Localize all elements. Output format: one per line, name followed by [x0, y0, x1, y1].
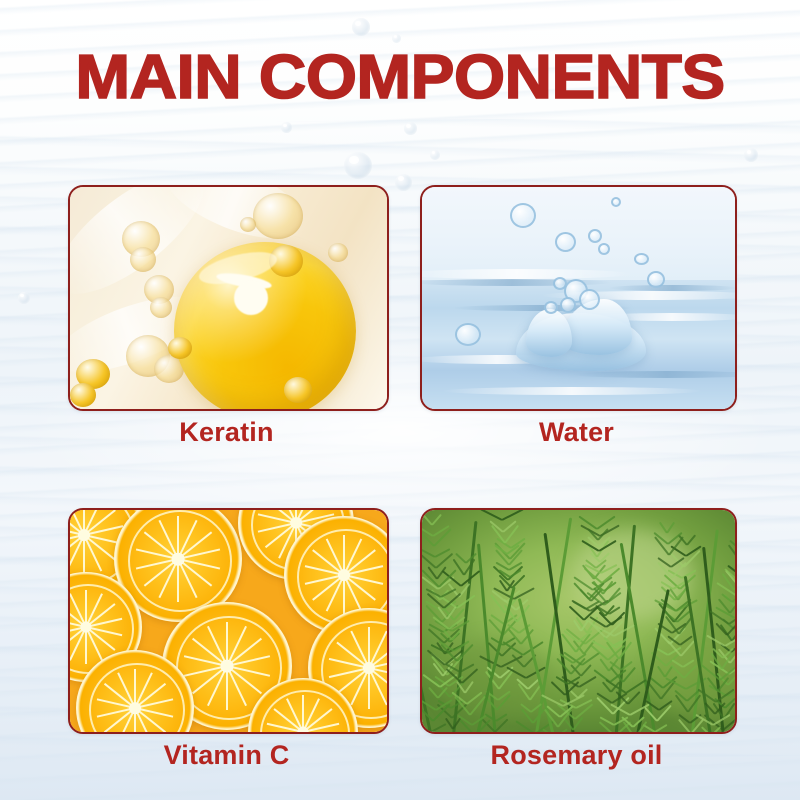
component-label-keratin: Keratin	[68, 417, 385, 448]
component-card-vitamin-c[interactable]: Vitamin C	[68, 508, 385, 730]
component-card-keratin[interactable]: Keratin	[68, 185, 385, 407]
water-wave-line	[442, 387, 702, 395]
rosemary-foliage	[422, 510, 735, 732]
water-bubble	[560, 297, 576, 313]
keratin-bubble	[130, 247, 156, 272]
component-card-rosemary-oil[interactable]: Rosemary oil	[420, 508, 733, 730]
component-label-vitamin-c: Vitamin C	[68, 740, 385, 771]
keratin-bubble	[284, 377, 312, 403]
rosemary-needle	[687, 534, 697, 545]
orange-segment	[177, 559, 179, 602]
orange-segment	[343, 575, 345, 615]
orange-segment	[368, 668, 370, 709]
rosemary-needle	[727, 545, 737, 563]
keratin-bubble	[150, 297, 172, 318]
rosemary-needle	[423, 674, 441, 688]
vitamin-c-image-panel	[68, 508, 389, 734]
components-grid: Keratin	[0, 0, 800, 800]
keratin-image-panel	[68, 185, 389, 411]
keratin-droplet-highlight	[234, 281, 268, 315]
rosemary-needle	[710, 726, 721, 734]
keratin-bubble	[328, 243, 348, 262]
water-bubble	[555, 232, 576, 252]
water-bubble	[579, 289, 600, 310]
rosemary-needle	[706, 635, 725, 647]
rosemary-needle	[735, 594, 737, 608]
component-label-rosemary-oil: Rosemary oil	[420, 740, 733, 771]
water-bubble	[588, 229, 602, 243]
keratin-bubble	[70, 383, 96, 407]
rosemary-needle	[431, 723, 447, 733]
rosemary-needle	[480, 508, 502, 521]
product-components-infographic: MAIN COMPONENTS	[0, 0, 800, 800]
orange-segment	[226, 666, 228, 710]
keratin-bubble	[168, 337, 192, 359]
rosemary-needle	[554, 728, 567, 734]
rosemary-needle	[735, 568, 737, 580]
water-bubble	[598, 243, 610, 255]
keratin-bubble	[253, 193, 303, 239]
rosemary-needle	[727, 673, 737, 686]
rosemary-needle	[625, 679, 646, 694]
rosemary-needle	[578, 676, 596, 688]
water-bubble	[510, 203, 536, 228]
rosemary-image-panel	[420, 508, 737, 734]
water-bubble	[544, 301, 558, 314]
water-bubble	[634, 253, 649, 265]
rosemary-needle	[433, 529, 451, 547]
water-bubble	[647, 271, 665, 288]
component-card-water[interactable]: Water	[420, 185, 733, 407]
orange-segment	[302, 732, 304, 734]
orange-segment	[83, 535, 85, 575]
rosemary-needle	[431, 514, 442, 526]
component-label-water: Water	[420, 417, 733, 448]
rosemary-needle	[654, 724, 667, 733]
water-image-panel	[420, 185, 737, 411]
rosemary-needle	[683, 665, 697, 679]
water-bubble	[611, 197, 621, 207]
rosemary-needle	[736, 582, 737, 597]
rosemary-needle	[666, 522, 675, 534]
rosemary-needle	[501, 508, 523, 521]
keratin-bubble	[240, 217, 256, 232]
water-bubble	[553, 277, 567, 290]
water-bubble	[455, 323, 481, 346]
rosemary-needle	[580, 664, 592, 676]
water-wave-line	[608, 285, 737, 291]
rosemary-needle	[464, 681, 474, 694]
